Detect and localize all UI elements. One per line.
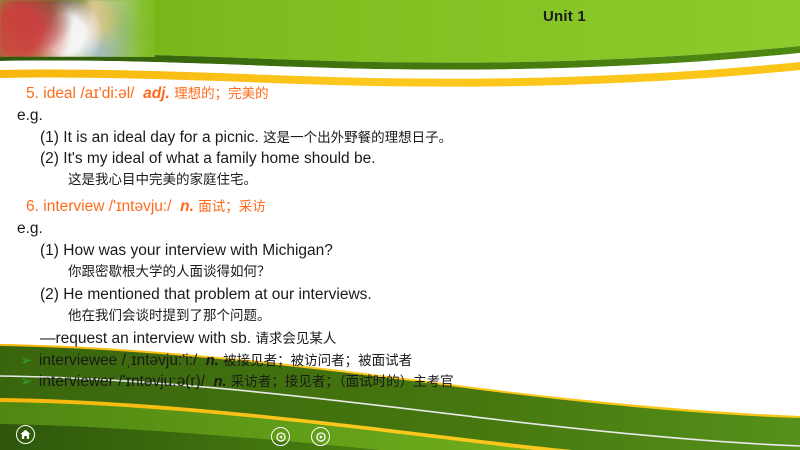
phrase-request-interview: —request an interview with sb. 请求会见某人 bbox=[40, 331, 336, 347]
entry-word: ideal bbox=[43, 85, 76, 102]
entry-pos: adj. bbox=[143, 85, 170, 102]
derivative-gloss: 被接见者；被访问者；被面试者 bbox=[223, 353, 412, 368]
header-photo bbox=[0, 0, 155, 57]
example-1-interview: (1) How was your interview with Michigan… bbox=[40, 243, 333, 259]
home-glyph bbox=[19, 428, 32, 441]
derivative-pos: n. bbox=[206, 353, 219, 369]
phrase-english: —request an interview with sb. bbox=[40, 330, 251, 347]
entry-word: interview bbox=[43, 198, 104, 215]
entry-index: 5. bbox=[26, 85, 39, 102]
entry-pos: n. bbox=[180, 198, 194, 215]
example-chinese: 这是一个出外野餐的理想日子。 bbox=[263, 130, 452, 145]
entry-gloss: 面试；采访 bbox=[198, 199, 266, 214]
arrow-bullet-icon: ➢ bbox=[20, 352, 33, 369]
eg-label-ideal: e.g. bbox=[17, 108, 43, 124]
derivative-interviewee: ➢ interviewee /ˌɪntəvju:'i:/ n. 被接见者；被访问… bbox=[20, 353, 412, 369]
example-2-chinese-interview: 他在我们会谈时提到了那个问题。 bbox=[68, 309, 271, 323]
derivative-interviewer: ➢ interviewer /'ɪntəvju:ə(r)/ n. 采访者；接见者… bbox=[20, 374, 454, 390]
page-title: Unit 1 bbox=[543, 8, 586, 25]
example-2-ideal: (2) It's my ideal of what a family home … bbox=[40, 151, 376, 167]
arrow-bullet-icon: ➢ bbox=[20, 373, 33, 390]
example-number: (1) bbox=[40, 242, 59, 259]
entry-heading-ideal: 5. ideal /aɪ'di:əl/ adj. 理想的；完美的 bbox=[26, 86, 269, 102]
example-number: (2) bbox=[40, 286, 59, 303]
derivative-ipa: /ˌɪntəvju:'i:/ bbox=[122, 352, 198, 369]
derivative-pos: n. bbox=[214, 374, 227, 390]
example-english: How was your interview with Michigan? bbox=[63, 242, 333, 259]
entry-heading-interview: 6. interview /'ɪntəvju:/ n. 面试；采访 bbox=[26, 199, 266, 215]
example-number: (1) bbox=[40, 129, 59, 146]
entry-ipa: /'ɪntəvju:/ bbox=[109, 198, 172, 215]
phrase-chinese: 请求会见某人 bbox=[255, 331, 336, 346]
example-2-chinese-ideal: 这是我心目中完美的家庭住宅。 bbox=[68, 173, 257, 187]
derivative-word: interviewer bbox=[39, 373, 114, 390]
previous-slide-icon[interactable] bbox=[271, 427, 290, 446]
next-glyph bbox=[315, 431, 327, 443]
example-english: It is an ideal day for a picnic. bbox=[63, 129, 259, 146]
entry-ipa: /aɪ'di:əl/ bbox=[80, 85, 134, 102]
entry-index: 6. bbox=[26, 198, 39, 215]
derivative-gloss: 采访者；接见者；（面试时的）主考官 bbox=[231, 374, 454, 389]
entry-gloss: 理想的；完美的 bbox=[174, 86, 269, 101]
example-1-ideal: (1) It is an ideal day for a picnic. 这是一… bbox=[40, 130, 452, 146]
example-english: He mentioned that problem at our intervi… bbox=[63, 286, 371, 303]
slide-canvas: Unit 1 5. ideal /aɪ'di:əl/ adj. 理想的；完美的 … bbox=[0, 0, 800, 450]
home-icon[interactable] bbox=[16, 425, 35, 444]
eg-label-interview: e.g. bbox=[17, 221, 43, 237]
example-english: It's my ideal of what a family home shou… bbox=[63, 150, 375, 167]
example-2-interview: (2) He mentioned that problem at our int… bbox=[40, 287, 372, 303]
example-1-chinese-interview: 你跟密歇根大学的人面谈得如何？ bbox=[68, 265, 271, 279]
prev-glyph bbox=[275, 431, 287, 443]
derivative-ipa: /'ɪntəvju:ə(r)/ bbox=[118, 373, 205, 390]
next-slide-icon[interactable] bbox=[311, 427, 330, 446]
example-number: (2) bbox=[40, 150, 59, 167]
header-photo-fade bbox=[0, 0, 155, 57]
derivative-word: interviewee bbox=[39, 352, 117, 369]
slide-content: 5. ideal /aɪ'di:əl/ adj. 理想的；完美的 e.g. (1… bbox=[0, 82, 800, 382]
